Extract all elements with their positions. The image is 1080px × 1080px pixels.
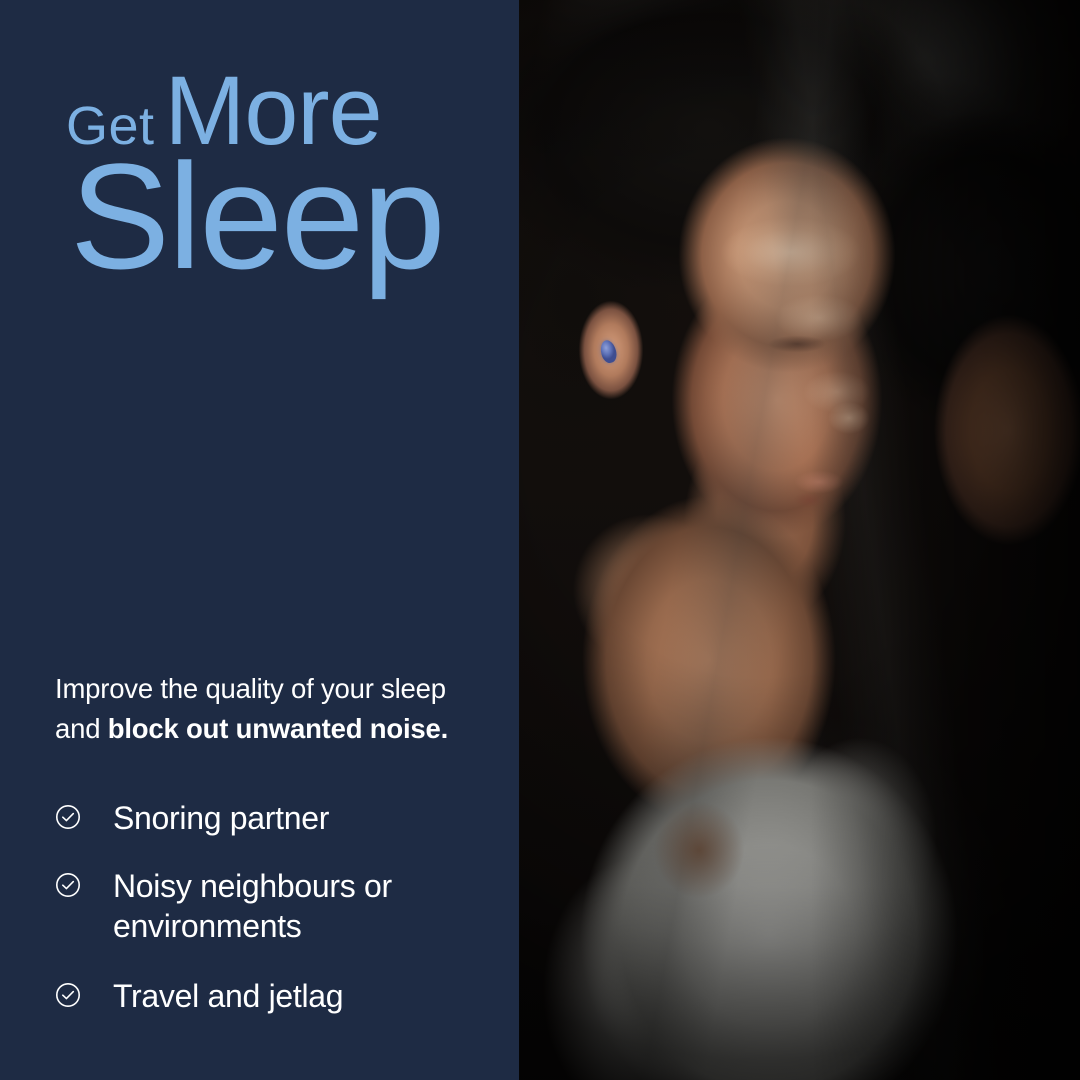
check-circle-icon <box>55 872 81 898</box>
sleeping-couple-photo <box>519 0 1080 1080</box>
list-item: Snoring partner <box>55 798 475 838</box>
list-item: Noisy neighbours or environments <box>55 866 475 946</box>
body-copy-emphasis: block out unwanted noise. <box>108 713 448 744</box>
content-panel: GetMore Sleep Improve the quality of you… <box>0 0 519 1080</box>
check-circle-icon <box>55 804 81 830</box>
body-copy: Improve the quality of your sleep and bl… <box>55 669 455 749</box>
list-item: Travel and jetlag <box>55 976 475 1016</box>
photo-vignette <box>519 0 1080 1080</box>
benefit-label: Noisy neighbours or environments <box>113 866 443 946</box>
sleep-promo-poster: GetMore Sleep Improve the quality of you… <box>0 0 1080 1080</box>
benefit-label: Travel and jetlag <box>113 976 343 1016</box>
check-circle-icon <box>55 982 81 1008</box>
benefits-list: Snoring partner Noisy neighbours or envi… <box>55 798 475 1016</box>
benefit-label: Snoring partner <box>113 798 329 838</box>
headline-word-sleep: Sleep <box>70 141 444 291</box>
